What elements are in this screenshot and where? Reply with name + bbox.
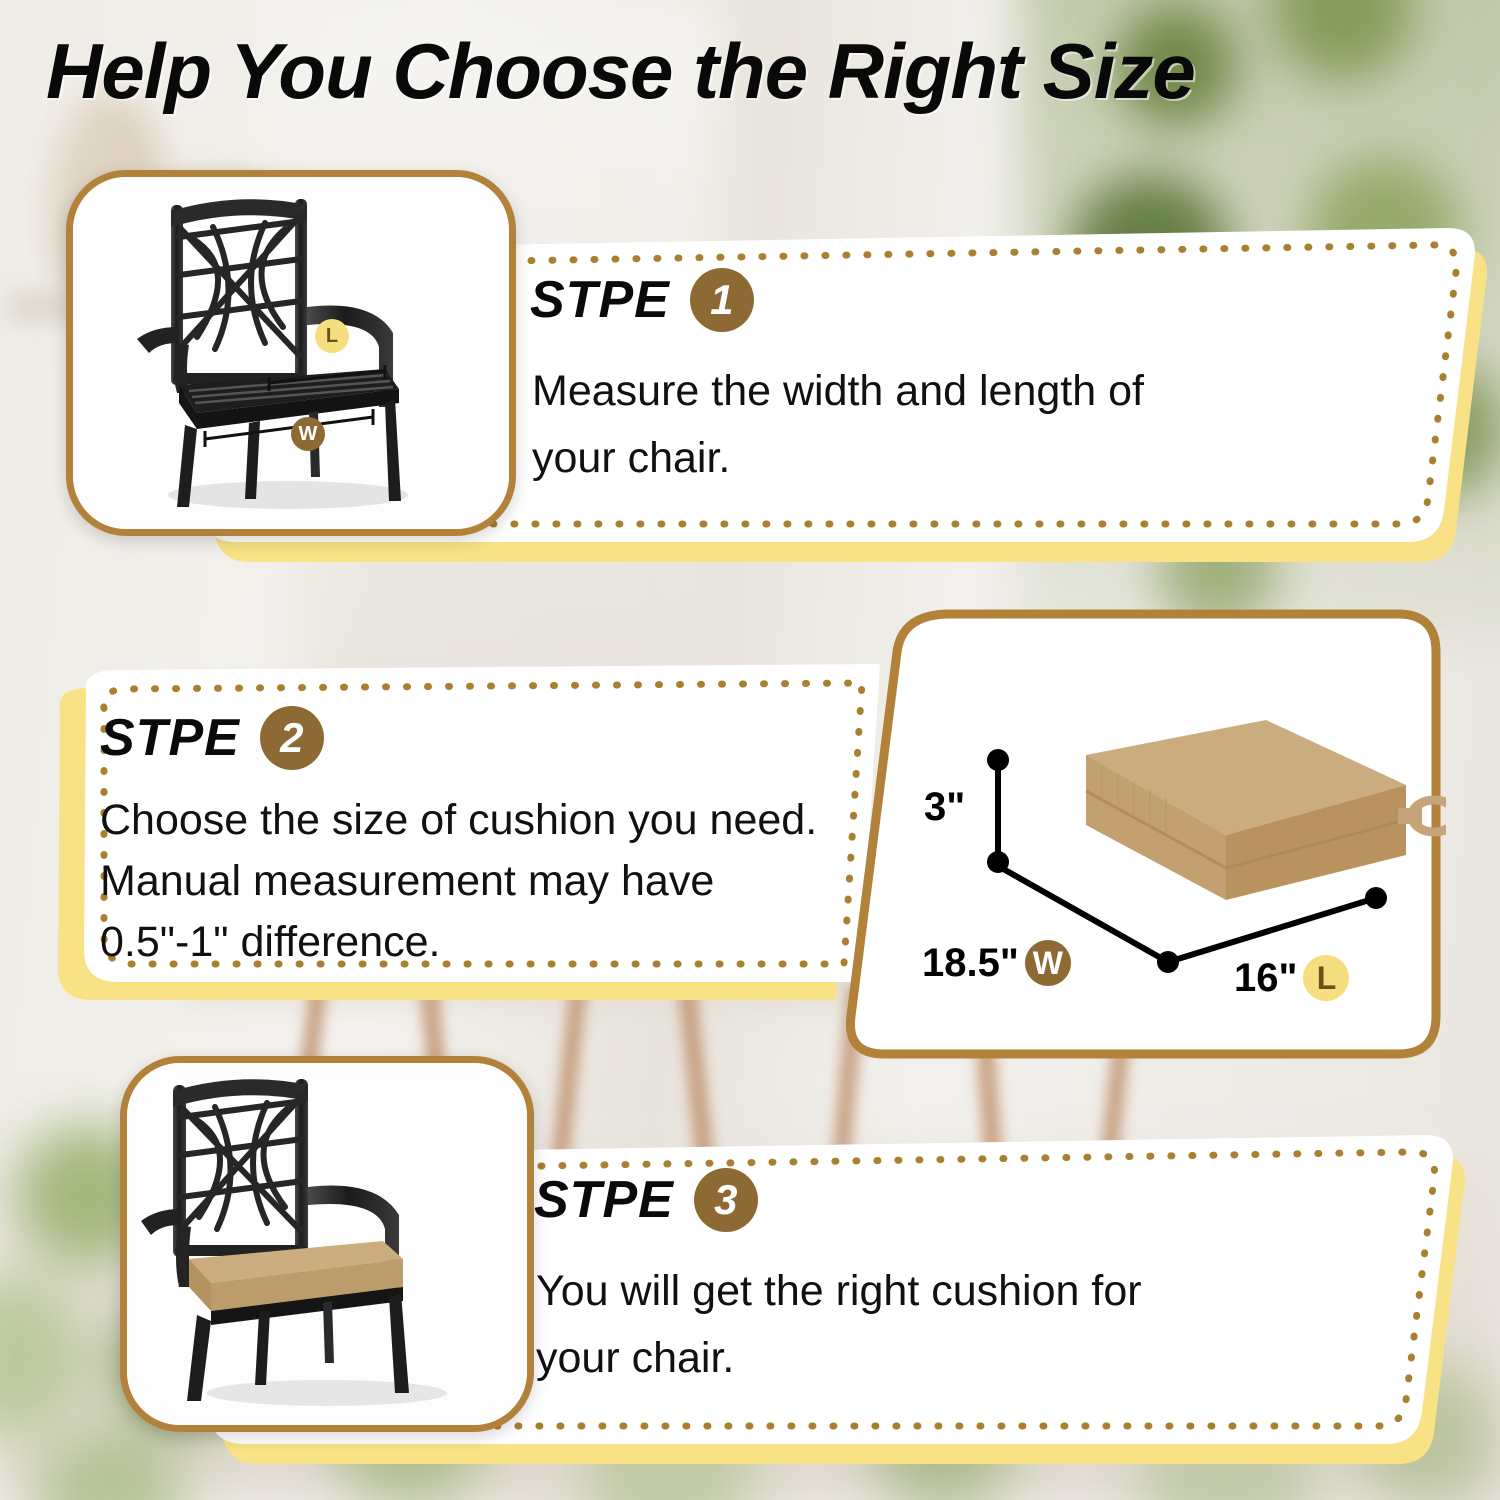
step-1-description: Measure the width and length of your cha… <box>532 358 1332 491</box>
dimension-height <box>987 749 1009 873</box>
step-1-description-line: Measure the width and length of <box>532 358 1332 425</box>
step-3-heading: STPE 3 <box>534 1168 758 1232</box>
page-title: Help You Choose the Right Size <box>46 26 1195 117</box>
step-1-description-line: your chair. <box>532 425 1332 492</box>
cushion-length-dimension: 16" L <box>1234 955 1349 1001</box>
chair-illustration-plain <box>73 177 509 529</box>
chair-width-badge: W <box>291 417 325 451</box>
step-3-photo-area <box>127 1063 527 1425</box>
step-2-number-badge: 2 <box>260 706 324 770</box>
step-3-label: STPE <box>534 1170 674 1230</box>
cushion-length-badge: L <box>1303 955 1349 1001</box>
step-2-description: Choose the size of cushion you need. Man… <box>100 790 880 973</box>
step-2-description-line: 0.5"-1" difference. <box>100 912 880 973</box>
chair-with-cushion-illustration <box>127 1063 527 1425</box>
step-1-heading: STPE 1 <box>530 268 754 332</box>
step-2-description-line: Choose the size of cushion you need. <box>100 790 880 851</box>
cushion-length-value: 16" <box>1234 956 1297 1001</box>
step-3-description-line: You will get the right cushion for <box>536 1258 1356 1325</box>
cushion-width-value: 18.5" <box>922 941 1019 986</box>
step-3-description: You will get the right cushion for your … <box>536 1258 1356 1391</box>
cushion-illustration <box>846 610 1446 1060</box>
step-1-number-badge: 1 <box>690 268 754 332</box>
step-1-label: STPE <box>530 270 670 330</box>
step-2-image-card: 3" 18.5" W 16" L <box>846 610 1446 1060</box>
cushion-width-badge: W <box>1025 940 1071 986</box>
step-3-image-card <box>120 1056 534 1432</box>
cushion-width-dimension: 18.5" W <box>922 940 1071 986</box>
step-3-number-badge: 3 <box>694 1168 758 1232</box>
step-2-description-line: Manual measurement may have <box>100 851 880 912</box>
step-1-image-card: L W <box>66 170 516 536</box>
step-3-description-line: your chair. <box>536 1325 1356 1392</box>
cushion-height-value: 3" <box>924 785 965 830</box>
dimension-length-line <box>1168 887 1387 962</box>
step-1-photo-area <box>73 177 509 529</box>
step-2-label: STPE <box>100 708 240 768</box>
chair-length-badge: L <box>315 319 349 353</box>
step-2-heading: STPE 2 <box>100 706 324 770</box>
